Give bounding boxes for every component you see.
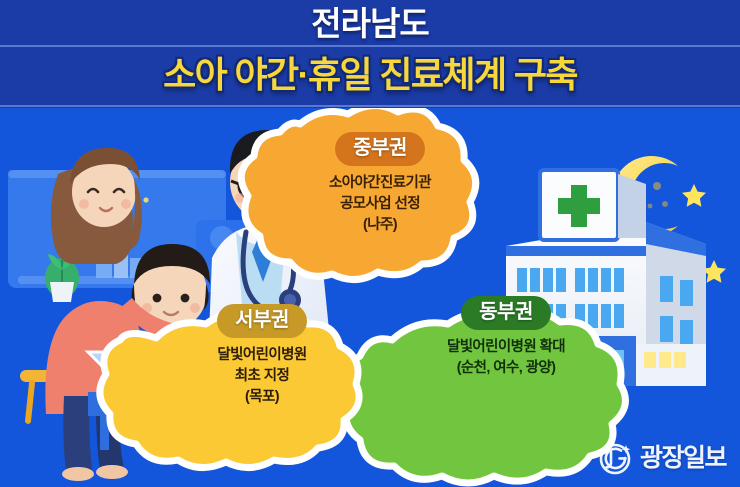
header-divider-bottom — [0, 105, 740, 107]
blob-east — [345, 311, 626, 483]
gwangjang-ilbo-logo-icon — [599, 441, 633, 475]
page-title: 전라남도 — [0, 2, 740, 46]
page-subtitle: 소아 야간·휴일 진료체계 구축 — [0, 48, 740, 102]
illustration-canvas: 중부권 소아야간진료기관 공모사업 선정 (나주) 서부권 달빛어린이병원 최초… — [0, 108, 740, 487]
watermark-text: 광장일보 — [640, 444, 726, 472]
blob-center — [241, 108, 476, 280]
region-blobs — [0, 108, 740, 487]
watermark: 광장일보 — [599, 441, 726, 475]
infographic-root: 전라남도 소아 야간·휴일 진료체계 구축 — [0, 0, 740, 487]
blob-west — [100, 312, 359, 467]
header-banner: 전라남도 소아 야간·휴일 진료체계 구축 — [0, 0, 740, 108]
